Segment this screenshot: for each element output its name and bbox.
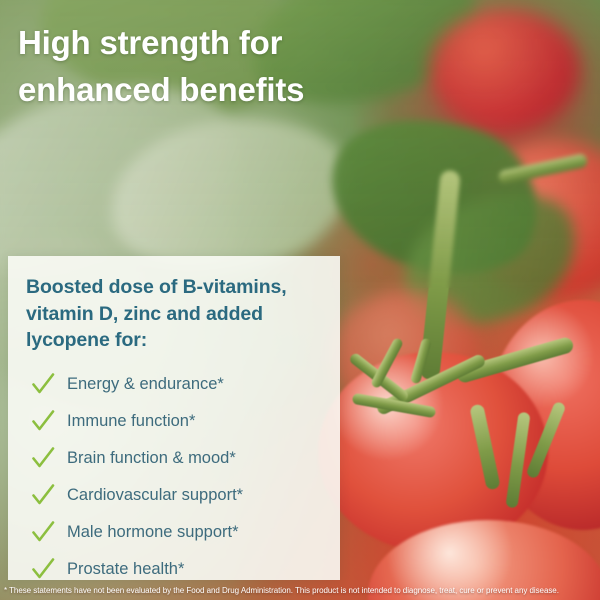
check-icon (30, 371, 56, 397)
list-item: Energy & endurance* (8, 366, 340, 403)
check-icon (30, 482, 56, 508)
headline-line-2: enhanced benefits (18, 67, 418, 114)
list-item: Male hormone support* (8, 514, 340, 551)
check-icon (30, 408, 56, 434)
check-icon (30, 445, 56, 471)
list-item-label: Immune function* (67, 412, 195, 430)
promo-graphic: High strength for enhanced benefits Boos… (0, 0, 600, 600)
list-item: Brain function & mood* (8, 440, 340, 477)
headline-line-1: High strength for (18, 20, 418, 67)
page-title: High strength for enhanced benefits (18, 20, 418, 114)
card-heading-line-2: vitamin D, zinc and added (26, 301, 322, 328)
list-item-label: Energy & endurance* (67, 375, 224, 393)
list-item-label: Brain function & mood* (67, 449, 236, 467)
list-item-label: Cardiovascular support* (67, 486, 243, 504)
benefits-list: Energy & endurance* Immune function* Bra… (8, 366, 340, 588)
list-item: Cardiovascular support* (8, 477, 340, 514)
check-icon (30, 519, 56, 545)
card-heading-line-3: lycopene for: (26, 327, 322, 354)
check-icon (30, 556, 56, 582)
disclaimer-text: * These statements have not been evaluat… (4, 586, 596, 596)
list-item: Prostate health* (8, 551, 340, 588)
benefits-card: Boosted dose of B-vitamins, vitamin D, z… (8, 256, 340, 580)
card-heading: Boosted dose of B-vitamins, vitamin D, z… (26, 274, 322, 354)
card-heading-line-1: Boosted dose of B-vitamins, (26, 274, 322, 301)
list-item-label: Prostate health* (67, 560, 184, 578)
list-item: Immune function* (8, 403, 340, 440)
list-item-label: Male hormone support* (67, 523, 239, 541)
